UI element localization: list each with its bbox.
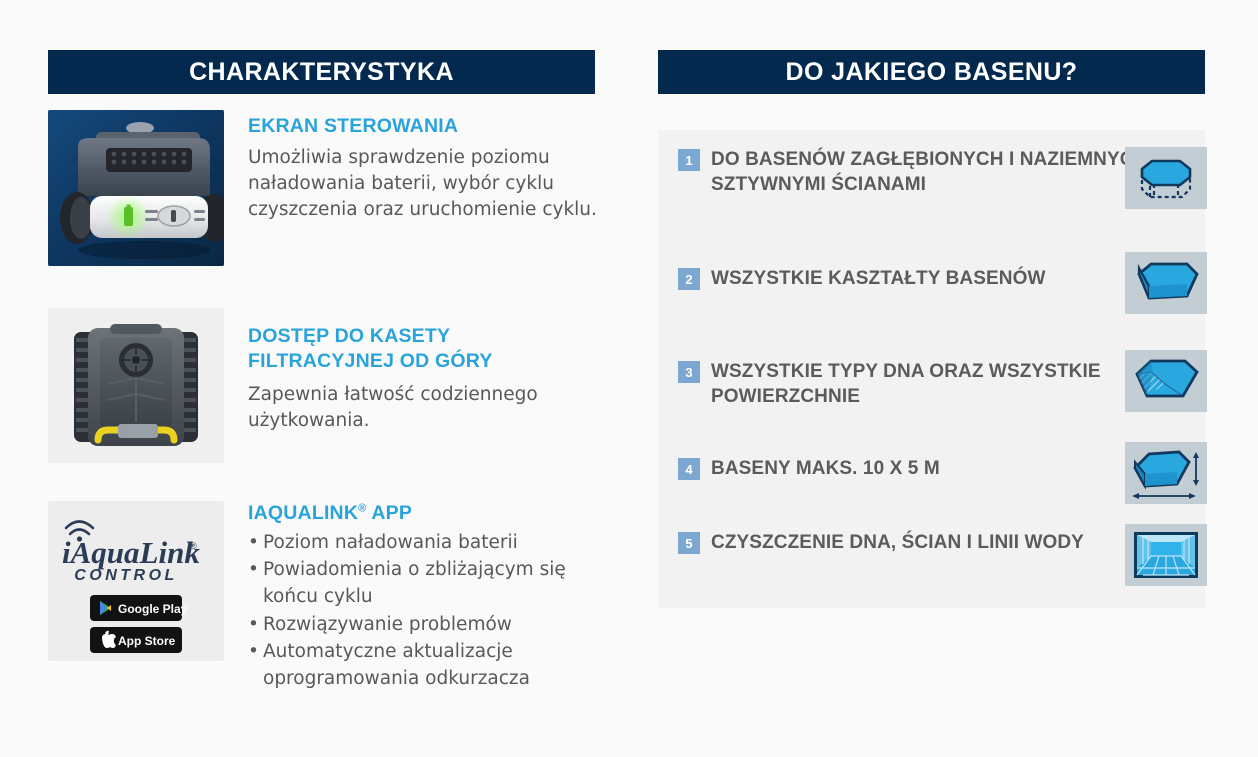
pool-interior-cleaning-icon — [1125, 524, 1207, 586]
characteristics-list: EKRAN STEROWANIA Umożliwia sprawdzenie p… — [48, 110, 608, 692]
feature-iaqualink-app-title-suffix: APP — [366, 502, 412, 524]
right-column-header: DO JAKIEGO BASENU? — [658, 50, 1205, 94]
feature-filter-access-title-line1: DOSTĘP DO KASETY — [248, 325, 450, 347]
iaqualink-brand-text: iAquaLink — [62, 535, 200, 570]
octagonal-above-ground-pool-icon — [1125, 147, 1207, 209]
pool-row-3: 3 WSZYSTKIE TYPY DNA ORAZ WSZYSTKIE POWI… — [658, 359, 1225, 410]
feature-filter-access-body: Zapewnia łatwość codziennego użytkowania… — [248, 382, 608, 435]
pool-compatibility-panel: 1 DO BASENÓW ZAGŁĘBIONYCH I NAZIEMNYCH Z… — [658, 130, 1205, 608]
feature-control-screen: EKRAN STEROWANIA Umożliwia sprawdzenie p… — [48, 110, 608, 266]
feature-iaqualink-app-text: IAQUALINK® APP Poziom naładowania bateri… — [248, 501, 608, 692]
feature-control-screen-body: Umożliwia sprawdzenie poziomu naładowani… — [248, 145, 608, 224]
pool-item-number-badge: 4 — [678, 458, 700, 480]
robot-front-control-screen-photo — [48, 110, 224, 266]
feature-control-screen-title: EKRAN STEROWANIA — [248, 114, 608, 139]
svg-text:App Store: App Store — [118, 634, 176, 648]
svg-text:Google Play: Google Play — [118, 602, 188, 616]
app-store-badge: App Store — [90, 627, 182, 653]
iaqualink-feature-bullets: Poziom naładowania baterii Powiadomienia… — [248, 529, 608, 692]
robot-top-filter-cartridge-photo — [48, 308, 224, 463]
pool-shape-icon — [1125, 252, 1207, 314]
pool-row-5: 5 CZYSZCZENIE DNA, ŚCIAN I LINII WODY — [658, 530, 1225, 555]
infographic-page: CHARAKTERYSTYKA DO JAKIEGO BASENU? — [0, 0, 1258, 757]
pool-row-4: 4 BASENY MAKS. 10 X 5 M — [658, 456, 1225, 481]
feature-control-screen-text: EKRAN STEROWANIA Umożliwia sprawdzenie p… — [248, 110, 608, 224]
pool-item-number-badge: 1 — [678, 149, 700, 171]
google-play-badge: Google Play — [90, 595, 188, 621]
pool-item-number-badge: 5 — [678, 532, 700, 554]
feature-filter-access-title: DOSTĘP DO KASETY FILTRACYJNEJ OD GÓRY — [248, 324, 608, 374]
feature-iaqualink-app-title: IAQUALINK® APP — [248, 501, 608, 526]
iaqualink-registered-mark: ® — [190, 541, 197, 551]
pool-item-number-badge: 3 — [678, 361, 700, 383]
pool-row-2: 2 WSZYSTKIE KASZTAŁTY BASENÓW — [658, 266, 1225, 291]
feature-iaqualink-app: iAquaLink ® CONTROL Google Play — [48, 501, 608, 692]
pool-floor-types-icon — [1125, 350, 1207, 412]
list-item: Poziom naładowania baterii — [248, 529, 608, 556]
left-column-header: CHARAKTERYSTYKA — [48, 50, 595, 94]
pool-dimensions-icon — [1125, 442, 1207, 504]
feature-filter-access-text: DOSTĘP DO KASETY FILTRACYJNEJ OD GÓRY Za… — [248, 308, 608, 434]
iaqualink-control-logo: iAquaLink ® CONTROL Google Play — [48, 501, 224, 661]
list-item: Powiadomienia o zbliżającym się końcu cy… — [248, 556, 608, 610]
pool-item-number-badge: 2 — [678, 268, 700, 290]
iaqualink-subtitle-text: CONTROL — [74, 567, 178, 584]
list-item: Automatyczne aktualizacje oprogramowania… — [248, 638, 608, 692]
list-item: Rozwiązywanie problemów — [248, 611, 608, 638]
feature-filter-access-title-line2: FILTRACYJNEJ OD GÓRY — [248, 350, 493, 372]
pool-row-1: 1 DO BASENÓW ZAGŁĘBIONYCH I NAZIEMNYCH Z… — [658, 147, 1225, 198]
feature-iaqualink-app-title-main: IAQUALINK — [248, 502, 358, 524]
feature-filter-access: DOSTĘP DO KASETY FILTRACYJNEJ OD GÓRY Za… — [48, 308, 608, 463]
